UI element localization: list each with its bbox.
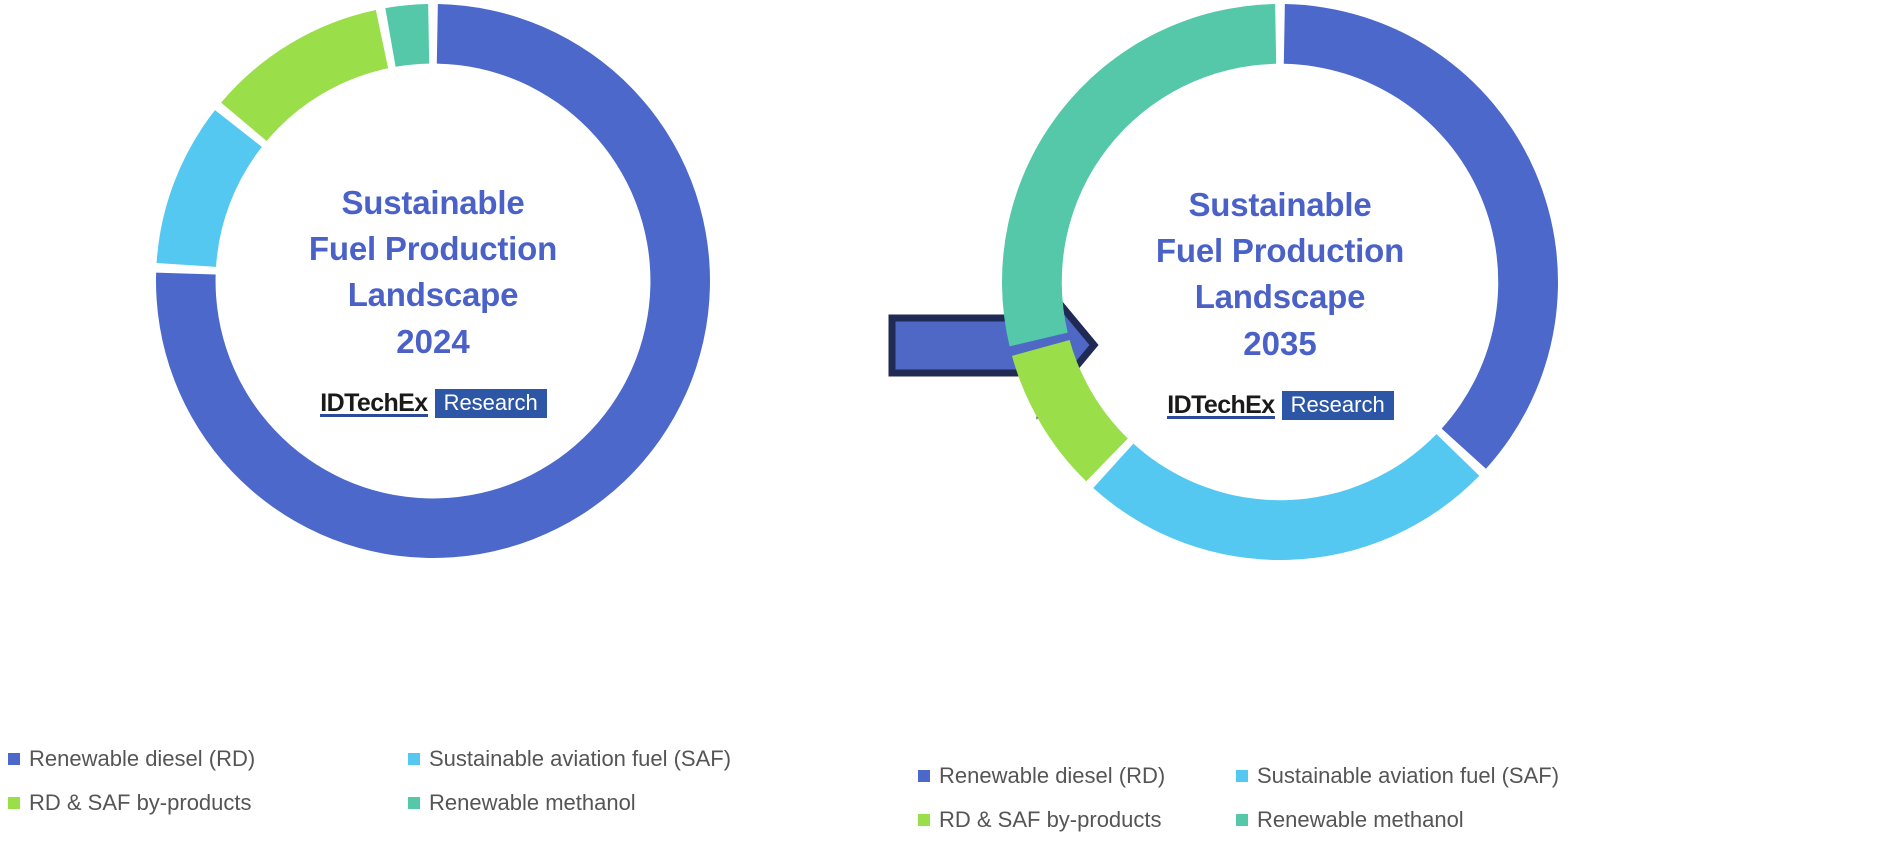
legend-item-by-products: RD & SAF by-products: [918, 809, 1236, 831]
legend-item-saf: Sustainable aviation fuel (SAF): [1236, 765, 1566, 787]
donut-chart-2035: Sustainable Fuel Production Landscape 20…: [1000, 2, 1560, 602]
legend-item-renewable-methanol: Renewable methanol: [408, 792, 798, 814]
legend-label-renewable-diesel: Renewable diesel (RD): [939, 765, 1165, 787]
legend-label-by-products: RD & SAF by-products: [939, 809, 1162, 831]
legend-item-by-products: RD & SAF by-products: [8, 792, 408, 814]
legend-item-renewable-methanol: Renewable methanol: [1236, 809, 1566, 831]
legend-2035: Renewable diesel (RD) Sustainable aviati…: [918, 765, 1708, 831]
donut-svg-2035: [1000, 2, 1560, 602]
donut-segment: [1002, 4, 1276, 346]
legend-label-by-products: RD & SAF by-products: [29, 792, 252, 814]
legend-swatch-renewable-methanol: [1236, 814, 1248, 826]
donut-segment: [221, 10, 388, 141]
legend-item-saf: Sustainable aviation fuel (SAF): [408, 748, 798, 770]
donut-chart-2024: Sustainable Fuel Production Landscape 20…: [154, 2, 712, 590]
legend-label-renewable-diesel: Renewable diesel (RD): [29, 748, 255, 770]
legend-label-saf: Sustainable aviation fuel (SAF): [1257, 765, 1559, 787]
donut-segment: [157, 110, 262, 267]
legend-item-renewable-diesel: Renewable diesel (RD): [8, 748, 408, 770]
donut-segment: [1284, 4, 1558, 469]
legend-item-renewable-diesel: Renewable diesel (RD): [918, 765, 1236, 787]
legend-swatch-saf: [1236, 770, 1248, 782]
legend-swatch-renewable-diesel: [918, 770, 930, 782]
legend-swatch-renewable-methanol: [408, 797, 420, 809]
legend-swatch-by-products: [8, 797, 20, 809]
legend-label-renewable-methanol: Renewable methanol: [429, 792, 636, 814]
legend-swatch-renewable-diesel: [8, 753, 20, 765]
legend-label-renewable-methanol: Renewable methanol: [1257, 809, 1464, 831]
legend-swatch-by-products: [918, 814, 930, 826]
slide-canvas: Sustainable Fuel Production Landscape 20…: [0, 0, 1886, 842]
legend-2024: Renewable diesel (RD) Sustainable aviati…: [8, 748, 798, 814]
donut-segment: [1012, 340, 1128, 481]
donut-segment: [1093, 434, 1479, 560]
legend-label-saf: Sustainable aviation fuel (SAF): [429, 748, 731, 770]
donut-svg-2024: [154, 2, 712, 590]
donut-segment: [385, 4, 429, 67]
legend-swatch-saf: [408, 753, 420, 765]
